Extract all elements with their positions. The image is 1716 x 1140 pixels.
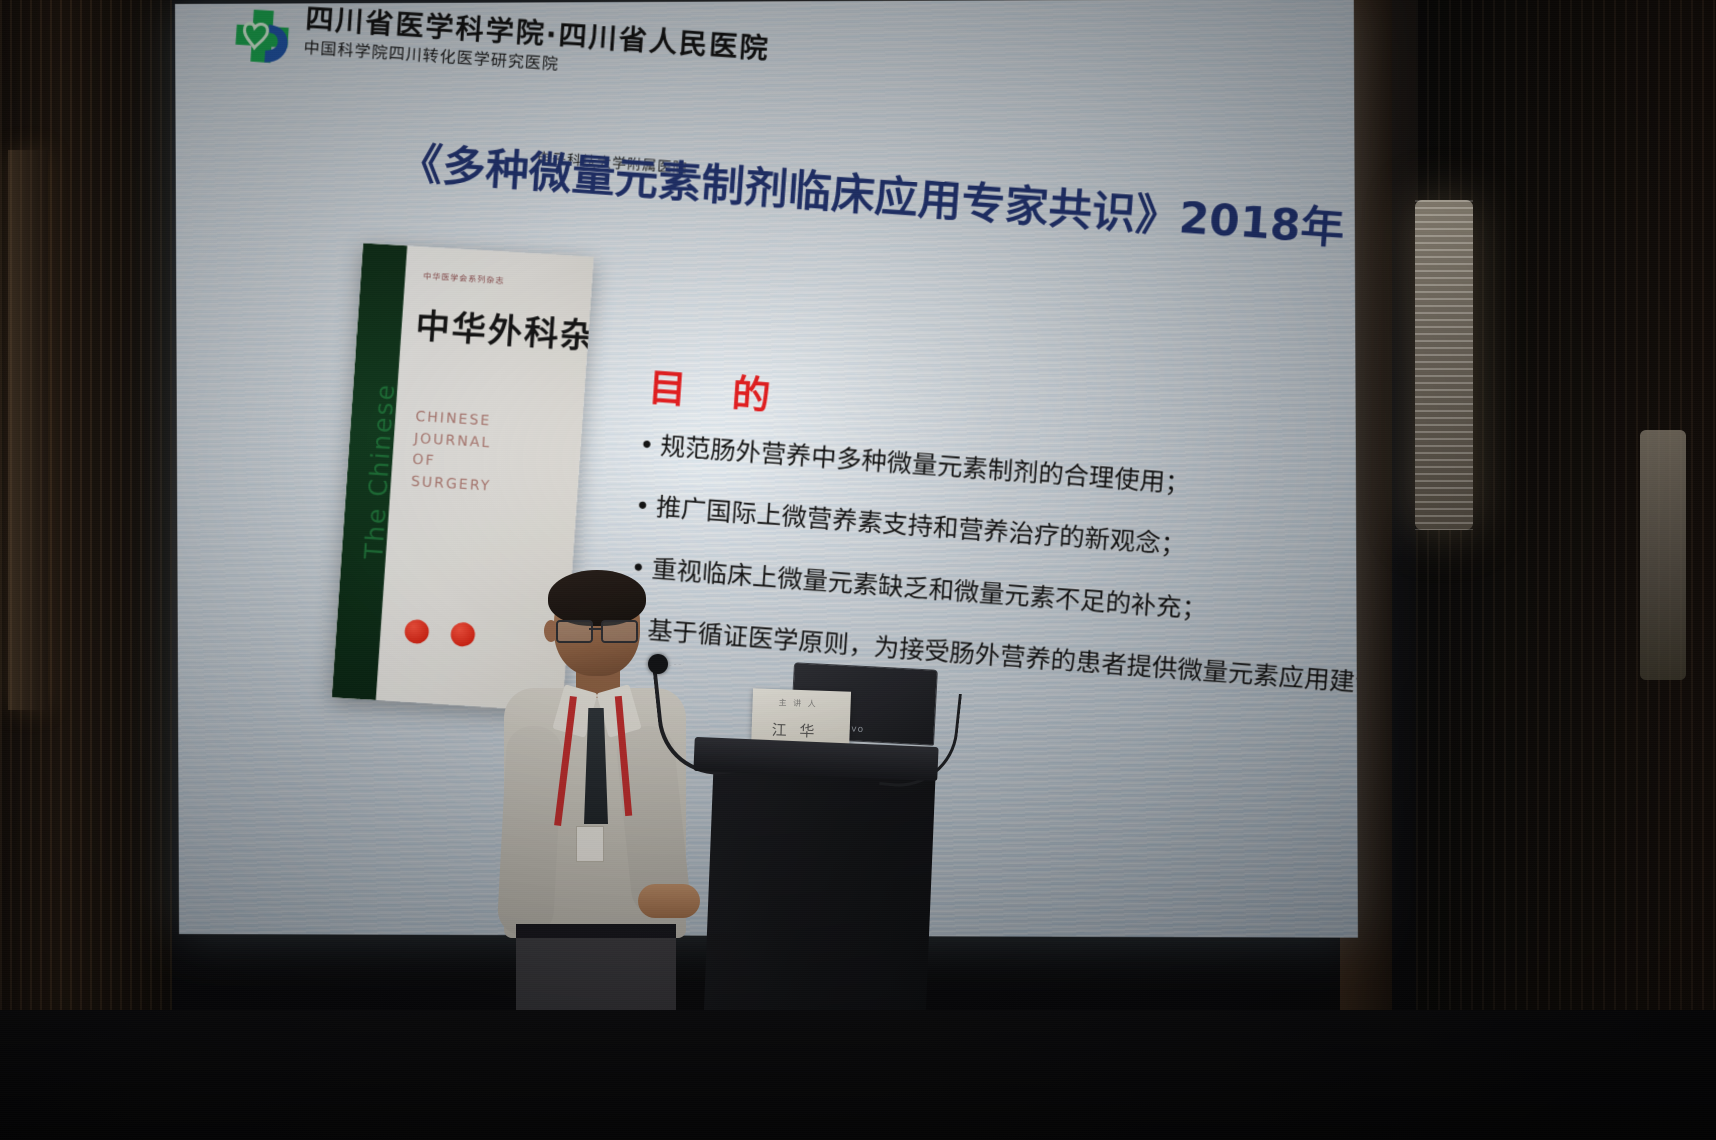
- journal-spine-text: The Chinese: [359, 258, 409, 560]
- journal-chinese-title: 中华外科杂志: [414, 298, 594, 360]
- journal-english-title: CHINESEJOURNALOFSURGERY: [410, 407, 496, 499]
- bullet-text: 规范肠外营养中多种微量元素制剂的合理使用；: [659, 430, 1191, 500]
- eyeglass-lens-right: [601, 620, 638, 643]
- section-heading-purpose: 目 的: [647, 356, 789, 421]
- bullet-marker-icon: •: [634, 490, 651, 522]
- eyeglass-lens-left: [556, 620, 593, 643]
- bullet-marker-icon: •: [638, 429, 655, 461]
- speaker-badge-card: [576, 826, 604, 862]
- speaker-hair: [548, 570, 646, 626]
- journal-spine: The Chinese: [332, 243, 407, 700]
- wall-lamp-secondary: [1640, 430, 1686, 680]
- lamp-ribs: [1415, 200, 1473, 530]
- journal-badge-icon: [404, 619, 430, 645]
- slide-header-text: 四川省医学科学院·四川省人民医院 中国科学院四川转化医学研究医院: [303, 5, 771, 87]
- eyeglass-bridge: [589, 628, 601, 630]
- stage-floor: [0, 1010, 1716, 1140]
- bullet-text: 重视临床上微量元素缺乏和微量元素不足的补充；: [651, 553, 1208, 625]
- speaker-left-arm: [497, 725, 564, 938]
- journal-badges: [404, 619, 476, 647]
- hospital-cross-heart-logo-icon: [230, 4, 296, 70]
- eyeglasses-icon: [554, 620, 642, 640]
- wall-lamp-primary: [1415, 200, 1473, 530]
- name-card-subtitle: 主 讲 人: [778, 697, 817, 709]
- speaker-figure: [498, 576, 688, 1046]
- speaker-belt: [516, 924, 676, 938]
- bullet-text: 推广国际上微营养素支持和营养治疗的新观念；: [655, 492, 1187, 562]
- microphone-icon: [648, 654, 668, 674]
- name-card-name: 江 华: [771, 719, 818, 742]
- speaker-hands: [638, 884, 700, 918]
- journal-tiny-line: 中华医学会系列杂志: [423, 271, 505, 287]
- journal-badge-icon: [450, 622, 476, 648]
- slide-header: 四川省医学科学院·四川省人民医院 中国科学院四川转化医学研究医院: [228, 0, 857, 146]
- conference-photo: 四川省医学科学院·四川省人民医院 中国科学院四川转化医学研究医院 电子科技大学附…: [0, 0, 1716, 1140]
- slide-title: 《多种微量元素制剂临床应用专家共识》2018年: [398, 138, 1358, 260]
- left-pillar-light: [8, 150, 48, 710]
